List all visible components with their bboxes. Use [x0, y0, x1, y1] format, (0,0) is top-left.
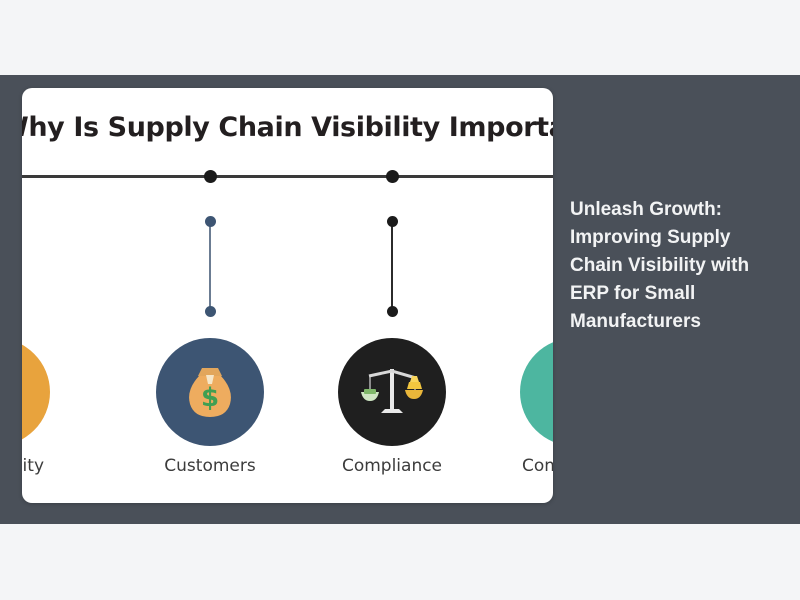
- node-label-complexity: Complexity: [22, 456, 91, 476]
- icon-bubble-competition[interactable]: [520, 338, 553, 446]
- infographic-title: Why Is Supply Chain Visibility Important…: [22, 112, 553, 143]
- growth-arrow-icon: [544, 363, 553, 421]
- connector-dot-top: [387, 216, 398, 227]
- axis-dot: [204, 170, 217, 183]
- icon-bubble-customers[interactable]: $: [156, 338, 264, 446]
- svg-text:$: $: [201, 383, 219, 413]
- node-label-compliance: Compliance: [297, 456, 487, 476]
- connector-stem: [391, 222, 393, 312]
- node-label-competition: Competition: [479, 456, 553, 476]
- icon-bubble-compliance[interactable]: [338, 338, 446, 446]
- balance-scale-icon: [359, 361, 425, 423]
- connector-stem: [209, 222, 211, 312]
- node-label-customers: Customers: [115, 456, 305, 476]
- connector-dot-bottom: [205, 306, 216, 317]
- infographic-card[interactable]: Why Is Supply Chain Visibility Important…: [22, 88, 553, 503]
- infographic-canvas: Why Is Supply Chain Visibility Important…: [22, 88, 553, 503]
- connector-dot-bottom: [387, 306, 398, 317]
- axis-dot: [386, 170, 399, 183]
- timeline-axis: [22, 175, 553, 178]
- money-bag-icon: $: [182, 362, 238, 422]
- connector-dot-top: [205, 216, 216, 227]
- icon-bubble-complexity[interactable]: ?: [22, 338, 50, 446]
- page-root: Why Is Supply Chain Visibility Important…: [0, 0, 800, 600]
- article-headline[interactable]: Unleash Growth: Improving Supply Chain V…: [570, 196, 756, 336]
